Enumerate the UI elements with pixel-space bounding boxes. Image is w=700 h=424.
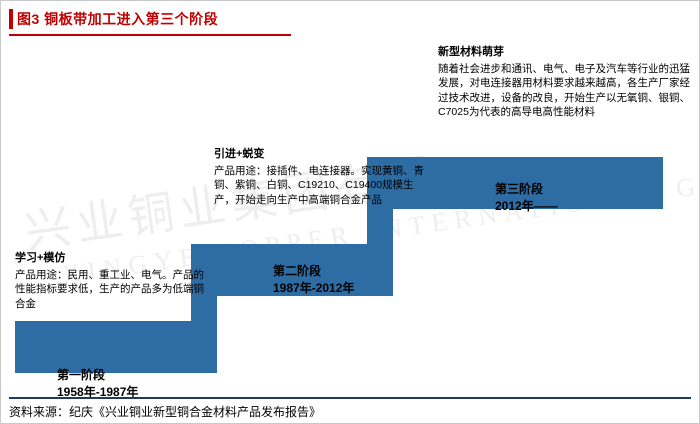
stage-2-callout: 引进+蜕变 产品用途：接插件、电连接器。实现黄铜、青铜、紫铜、白铜、C19210…: [214, 147, 424, 207]
header-divider: [9, 34, 291, 36]
stage-3-label: 第三阶段 2012年——: [495, 181, 558, 215]
stage-2-callout-title: 引进+蜕变: [214, 147, 424, 162]
footer-divider: [9, 397, 691, 399]
stage-1-callout: 学习+模仿 产品用途：民用、重工业、电气。产品的性能指标要求低，生产的产品多为低…: [15, 251, 205, 311]
stage-1-label: 第一阶段 1958年-1987年: [57, 367, 138, 401]
header-accent-bar: [9, 9, 13, 29]
figure-header: 图3 铜板带加工进入第三个阶段: [1, 1, 699, 37]
stair-step-1: [15, 321, 191, 373]
source-note: 资料来源：纪庆《兴业铜业新型铜合金材料产品发布报告》: [9, 403, 321, 420]
stage-3-callout-body: 随着社会进步和通讯、电气、电子及汽车等行业的迅猛发展，对电连接器用材料要求越来越…: [438, 62, 690, 120]
stage-2-callout-body: 产品用途：接插件、电连接器。实现黄铜、青铜、紫铜、白铜、C19210、C1940…: [214, 164, 424, 208]
figure-page: 图3 铜板带加工进入第三个阶段 兴业铜业集团有限 XINGYE COPPER I…: [0, 0, 700, 424]
stage-3-name: 第三阶段: [495, 181, 558, 198]
stage-2-period: 1987年-2012年: [273, 280, 354, 297]
stair-step-3-extension: [543, 157, 663, 209]
stage-1-callout-body: 产品用途：民用、重工业、电气。产品的性能指标要求低，生产的产品多为低端铜合金: [15, 268, 205, 312]
stage-3-period: 2012年——: [495, 198, 558, 215]
stage-3-callout-title: 新型材料萌芽: [438, 45, 690, 60]
page-title: 图3 铜板带加工进入第三个阶段: [17, 9, 218, 29]
stage-2-label: 第二阶段 1987年-2012年: [273, 263, 354, 297]
stage-2-name: 第二阶段: [273, 263, 354, 280]
stage-3-callout: 新型材料萌芽 随着社会进步和通讯、电气、电子及汽车等行业的迅猛发展，对电连接器用…: [438, 45, 690, 120]
stage-1-name: 第一阶段: [57, 367, 138, 384]
stage-1-callout-title: 学习+模仿: [15, 251, 205, 266]
